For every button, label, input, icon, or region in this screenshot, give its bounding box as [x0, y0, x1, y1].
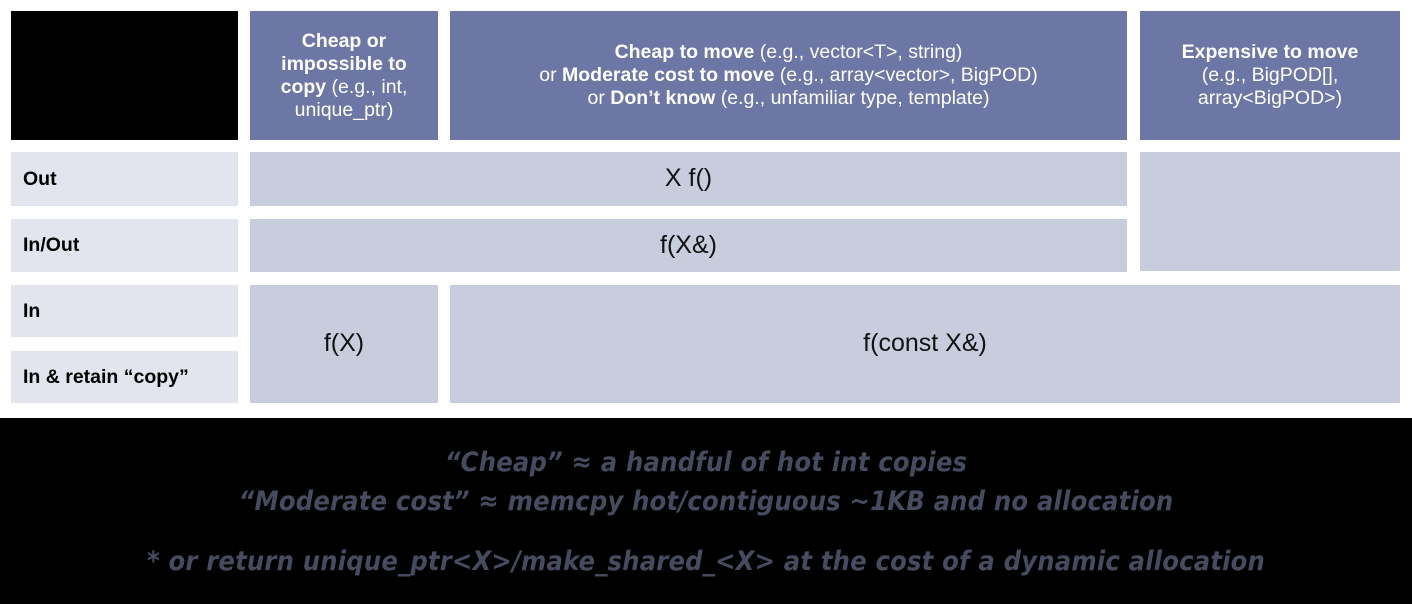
header-line-regular: (e.g., vector<T>, string) — [754, 41, 962, 63]
row-label-text: In & retain “copy” — [23, 366, 189, 389]
row-label-text: Out — [23, 168, 57, 191]
cell-value: f(X&) — [660, 231, 717, 261]
footnote-star-return: * or return unique_ptr<X>/make_shared_<X… — [0, 546, 1412, 577]
header-line-regular: (e.g., array<vector>, BigPOD) — [774, 64, 1037, 86]
header-line-bold: Cheap to move — [615, 41, 755, 63]
cell-value: f(const X&) — [863, 329, 987, 359]
header-line-bold: Cheap or — [302, 30, 387, 52]
row-label-text: In — [23, 300, 40, 323]
header-line-regular: (e.g., int, — [326, 76, 407, 98]
row-label-in: In — [11, 285, 238, 337]
footnote-moderate-cost: “Moderate cost” ≈ memcpy hot/contiguous … — [0, 486, 1412, 517]
header-line-regular: array<BigPOD>) — [1198, 87, 1342, 109]
cell-in-f-x: f(X) — [250, 285, 438, 403]
cell-in-f-const-x-ref: f(const X&) — [450, 285, 1400, 403]
header-line-regular: (e.g., BigPOD[], — [1202, 64, 1339, 86]
table-corner-block — [11, 11, 238, 140]
footnote-region: “Cheap” ≈ a handful of hot int copies “M… — [0, 418, 1412, 604]
header-line-prefix: or — [587, 87, 610, 109]
header-line-regular: (e.g., unfamiliar type, template) — [715, 87, 989, 109]
column-header-cheap-to-move: Cheap to move (e.g., vector<T>, string) … — [450, 11, 1127, 140]
row-label-out: Out — [11, 152, 238, 206]
footnote-cheap: “Cheap” ≈ a handful of hot int copies — [0, 447, 1412, 478]
row-label-text: In/Out — [23, 234, 79, 257]
header-line-bold: Don’t know — [610, 87, 715, 109]
row-label-in-out: In/Out — [11, 219, 238, 272]
cell-out-x-f: X f() — [250, 152, 1127, 206]
header-line-prefix: or — [539, 64, 562, 86]
header-line-bold: copy — [281, 76, 327, 98]
parameter-passing-table: Cheap or impossible to copy (e.g., int, … — [0, 0, 1412, 418]
header-line-bold: Expensive to move — [1182, 41, 1359, 63]
column-header-cheap-or-impossible-to-copy: Cheap or impossible to copy (e.g., int, … — [250, 11, 438, 140]
row-label-in-retain-copy: In & retain “copy” — [11, 351, 238, 403]
cell-value: X f() — [665, 164, 712, 194]
column-header-expensive-to-move: Expensive to move (e.g., BigPOD[], array… — [1140, 11, 1400, 140]
header-line-bold: impossible to — [281, 53, 407, 75]
header-line-bold: Moderate cost to move — [562, 64, 774, 86]
header-line-regular: unique_ptr) — [295, 99, 394, 121]
cell-value: f(X) — [324, 329, 364, 359]
cell-out-expensive-empty — [1140, 152, 1400, 271]
cell-inout-f-x-ref: f(X&) — [250, 219, 1127, 272]
